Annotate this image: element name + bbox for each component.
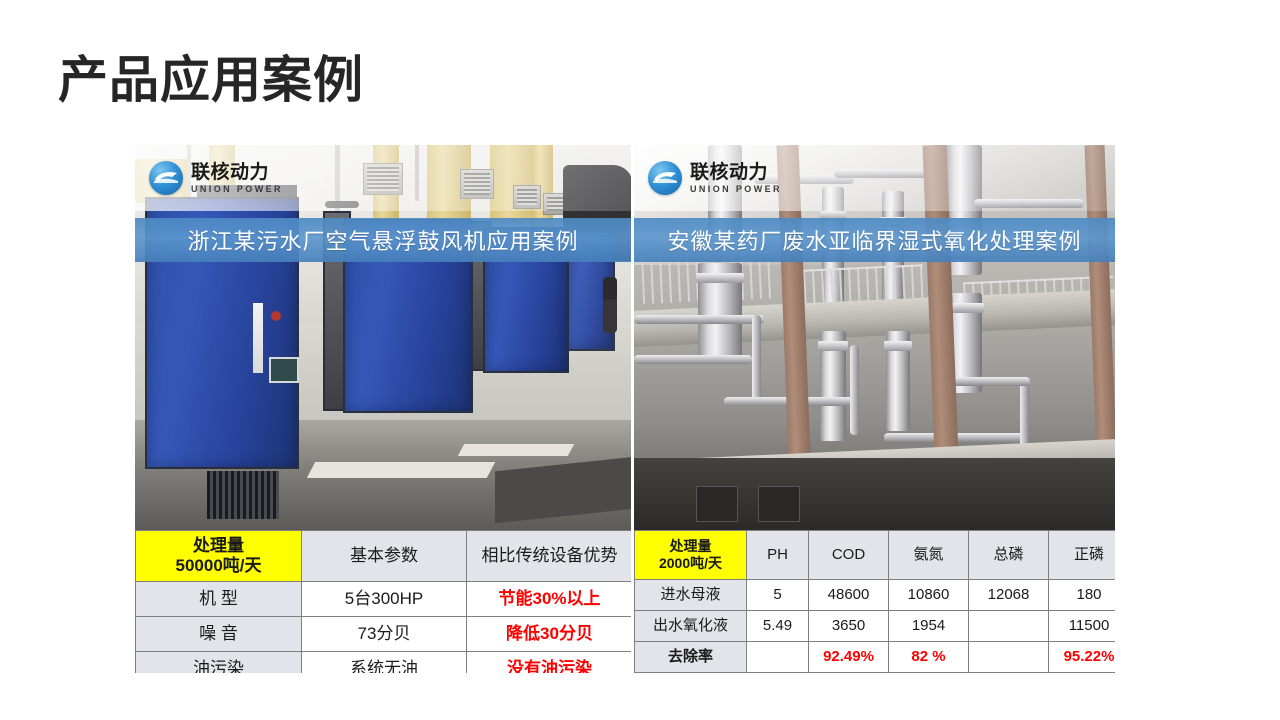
logo-text: 联核动力 UNION POWER xyxy=(690,163,782,194)
row-label: 去除率 xyxy=(635,642,747,673)
logo-name-cn: 联核动力 xyxy=(191,163,283,182)
pipe xyxy=(850,345,859,435)
blower-label xyxy=(253,303,263,373)
row-advantage: 没有油污染 xyxy=(467,652,632,674)
blower-display xyxy=(269,357,299,383)
row-value: 5台300HP xyxy=(302,582,467,617)
table-row: 去除率 92.49% 82 % 95.22% xyxy=(635,642,1116,673)
capacity-label: 处理量 xyxy=(635,538,746,555)
page-title: 产品应用案例 xyxy=(58,55,364,105)
table-header-row: 处理量 50000吨/天 基本参数 相比传统设备优势 xyxy=(136,531,632,582)
row-advantage: 降低30分贝 xyxy=(467,617,632,652)
spec-table-right: 处理量 2000吨/天 PH COD 氨氮 总磷 正磷 进水母液 5 48600… xyxy=(634,530,1115,673)
pipe xyxy=(634,315,764,324)
row-value: 180 xyxy=(1049,580,1116,611)
capacity-value: 2000吨/天 xyxy=(635,555,746,572)
row-value xyxy=(747,642,809,673)
case-banner-title-right: 安徽某药厂废水亚临界湿式氧化处理案例 xyxy=(667,224,1081,256)
table-row: 噪 音 73分贝 降低30分贝 xyxy=(136,617,632,652)
pipe xyxy=(634,355,752,364)
logo-name-en: UNION POWER xyxy=(191,185,283,194)
logo-name-en: UNION POWER xyxy=(690,185,782,194)
spec-table-left: 处理量 50000吨/天 基本参数 相比传统设备优势 机 型 5台300HP 节… xyxy=(135,530,631,673)
row-label: 噪 音 xyxy=(136,617,302,652)
machine-plinth xyxy=(458,444,574,456)
machine-plinth xyxy=(307,462,496,478)
case-banner-right: 安徽某药厂废水亚临界湿式氧化处理案例 xyxy=(634,218,1115,262)
table-header-cod: COD xyxy=(809,531,889,580)
pipe-flange xyxy=(884,341,912,351)
table-header-ammonia: 氨氮 xyxy=(889,531,969,580)
worker-silhouette xyxy=(603,277,617,333)
pipe xyxy=(752,315,761,405)
row-value: 3650 xyxy=(809,611,889,642)
case-panel-right: 联核动力 UNION POWER 安徽某药厂废水亚临界湿式氧化处理案例 处理量 … xyxy=(634,145,1115,673)
row-value: 92.49% xyxy=(809,642,889,673)
union-power-logo-icon xyxy=(149,161,183,195)
row-value: 82 % xyxy=(889,642,969,673)
row-value: 10860 xyxy=(889,580,969,611)
row-value xyxy=(969,611,1049,642)
row-label: 油污染 xyxy=(136,652,302,674)
case-photo-right: 联核动力 UNION POWER 安徽某药厂废水亚临界湿式氧化处理案例 xyxy=(634,145,1115,530)
logo-swoosh-icon xyxy=(154,171,178,183)
logo-name-cn: 联核动力 xyxy=(690,163,782,182)
row-value: 1954 xyxy=(889,611,969,642)
row-value: 5.49 xyxy=(747,611,809,642)
blower-grille xyxy=(207,471,279,519)
row-value: 11500 xyxy=(1049,611,1116,642)
table-header-row: 处理量 2000吨/天 PH COD 氨氮 总磷 正磷 xyxy=(635,531,1116,580)
row-value xyxy=(969,642,1049,673)
row-value: 48600 xyxy=(809,580,889,611)
service-door xyxy=(758,486,800,522)
row-value: 12068 xyxy=(969,580,1049,611)
table-header-params: 基本参数 xyxy=(302,531,467,582)
table-header-advantage: 相比传统设备优势 xyxy=(467,531,632,582)
table-header-total-phosphorus: 总磷 xyxy=(969,531,1049,580)
capacity-label: 处理量 xyxy=(136,536,301,556)
case-photo-left: 联核动力 UNION POWER 浙江某污水厂空气悬浮鼓风机应用案例 xyxy=(135,145,631,530)
pipe-flange xyxy=(696,273,744,283)
table-row: 机 型 5台300HP 节能30%以上 xyxy=(136,582,632,617)
logo-swoosh-icon xyxy=(653,171,677,183)
table-header-capacity: 处理量 2000吨/天 xyxy=(635,531,747,580)
pipe-flange xyxy=(818,341,848,351)
case-panel-left: 联核动力 UNION POWER 浙江某污水厂空气悬浮鼓风机应用案例 处理量 5… xyxy=(135,145,631,673)
row-value: 95.22% xyxy=(1049,642,1116,673)
table-row: 油污染 系统无油 没有油污染 xyxy=(136,652,632,674)
table-header-capacity: 处理量 50000吨/天 xyxy=(136,531,302,582)
table-header-ph: PH xyxy=(747,531,809,580)
case-banner-left: 浙江某污水厂空气悬浮鼓风机应用案例 xyxy=(135,218,631,262)
row-label: 进水母液 xyxy=(635,580,747,611)
capacity-value: 50000吨/天 xyxy=(136,556,301,576)
logo-bar: 联核动力 UNION POWER xyxy=(135,145,631,211)
logo-text: 联核动力 UNION POWER xyxy=(191,163,283,194)
table-row: 出水氧化液 5.49 3650 1954 11500 xyxy=(635,611,1116,642)
row-value: 5 xyxy=(747,580,809,611)
service-door xyxy=(696,486,738,522)
row-value: 系统无油 xyxy=(302,652,467,674)
row-value: 73分贝 xyxy=(302,617,467,652)
case-banner-title-left: 浙江某污水厂空气悬浮鼓风机应用案例 xyxy=(187,224,578,256)
table-row: 进水母液 5 48600 10860 12068 180 xyxy=(635,580,1116,611)
union-power-logo-icon xyxy=(648,161,682,195)
row-label: 机 型 xyxy=(136,582,302,617)
row-advantage: 节能30%以上 xyxy=(467,582,632,617)
logo-bar: 联核动力 UNION POWER xyxy=(634,145,1115,211)
emergency-stop-icon xyxy=(271,311,281,321)
table-header-ortho-phosphorus: 正磷 xyxy=(1049,531,1116,580)
row-label: 出水氧化液 xyxy=(635,611,747,642)
